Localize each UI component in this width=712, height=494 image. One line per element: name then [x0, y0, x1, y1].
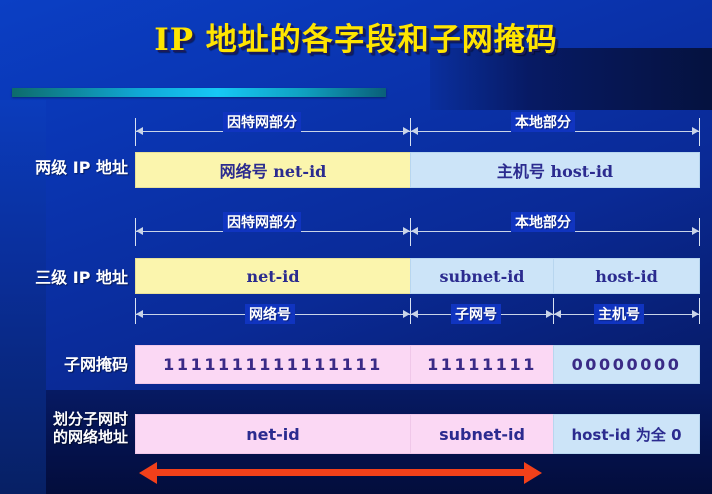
dim-label-internet-2: 因特网部分 [223, 212, 301, 232]
red-arrow-head-right [524, 462, 542, 484]
dim-label-internet-1: 因特网部分 [223, 112, 301, 132]
dim-arrow-left-1b [411, 127, 418, 135]
dim-arrow-left-2 [136, 227, 143, 235]
dim-label-local-2: 本地部分 [511, 212, 575, 232]
segment-net-id-two-level: 网络号 net-id [135, 152, 411, 188]
dim-label-local-1: 本地部分 [511, 112, 575, 132]
dim-arrow-left-1 [136, 127, 143, 135]
row-label-network-address: 划分子网时 的网络地址 [10, 410, 128, 447]
page-title: IP 地址的各字段和子网掩码 [0, 14, 712, 59]
segment-host-id-two-level: 主机号 host-id [410, 152, 700, 188]
dim-label-hostid: 主机号 [594, 304, 644, 324]
dim-tick-r1 [699, 118, 700, 146]
dim-arrow-right-1b [692, 127, 699, 135]
title-band: IP 地址的各字段和子网掩码 [0, 0, 712, 76]
dim-arrow-right-2b [692, 227, 699, 235]
dim-label-subnetid: 子网号 [451, 304, 501, 324]
row-label-network-address-line1: 划分子网时 [10, 410, 128, 428]
dim-arrow-left-2b [411, 227, 418, 235]
dim-label-netid: 网络号 [245, 304, 295, 324]
dim-arrow-right-3c [692, 310, 699, 318]
segment-net-id-three-level: net-id [135, 258, 411, 294]
mask-bits-subnet-id: 11111111 [410, 345, 554, 384]
dim-arrow-right-1 [403, 127, 410, 135]
row-label-two-level: 两级 IP 地址 [10, 158, 128, 178]
dim-arrow-right-3 [403, 310, 410, 318]
mask-bits-host-id: 00000000 [553, 345, 700, 384]
mask-bits-net-id: 1111111111111111 [135, 345, 411, 384]
dim-arrow-right-3b [546, 310, 553, 318]
dim-arrow-right-2 [403, 227, 410, 235]
segment-subnet-id-three-level: subnet-id [410, 258, 554, 294]
address-segment-subnet-id: subnet-id [410, 414, 554, 454]
address-segment-host-id-all-zero: host-id 为全 0 [553, 414, 700, 454]
accent-bar [12, 88, 386, 97]
dim-arrow-left-3b [411, 310, 418, 318]
slide-canvas: IP 地址的各字段和子网掩码 两级 IP 地址 因特网部分 本地部分 网络号 n… [0, 0, 712, 494]
dim-tick-r3 [699, 298, 700, 324]
dim-arrow-left-3c [554, 310, 561, 318]
red-arrow-shaft [155, 469, 527, 476]
row-label-subnet-mask: 子网掩码 [10, 355, 128, 375]
dim-tick-r2 [699, 218, 700, 246]
dim-arrow-left-3 [136, 310, 143, 318]
segment-host-id-three-level: host-id [553, 258, 700, 294]
row-label-network-address-line2: 的网络地址 [10, 428, 128, 446]
address-segment-net-id: net-id [135, 414, 411, 454]
row-label-three-level: 三级 IP 地址 [10, 268, 128, 288]
